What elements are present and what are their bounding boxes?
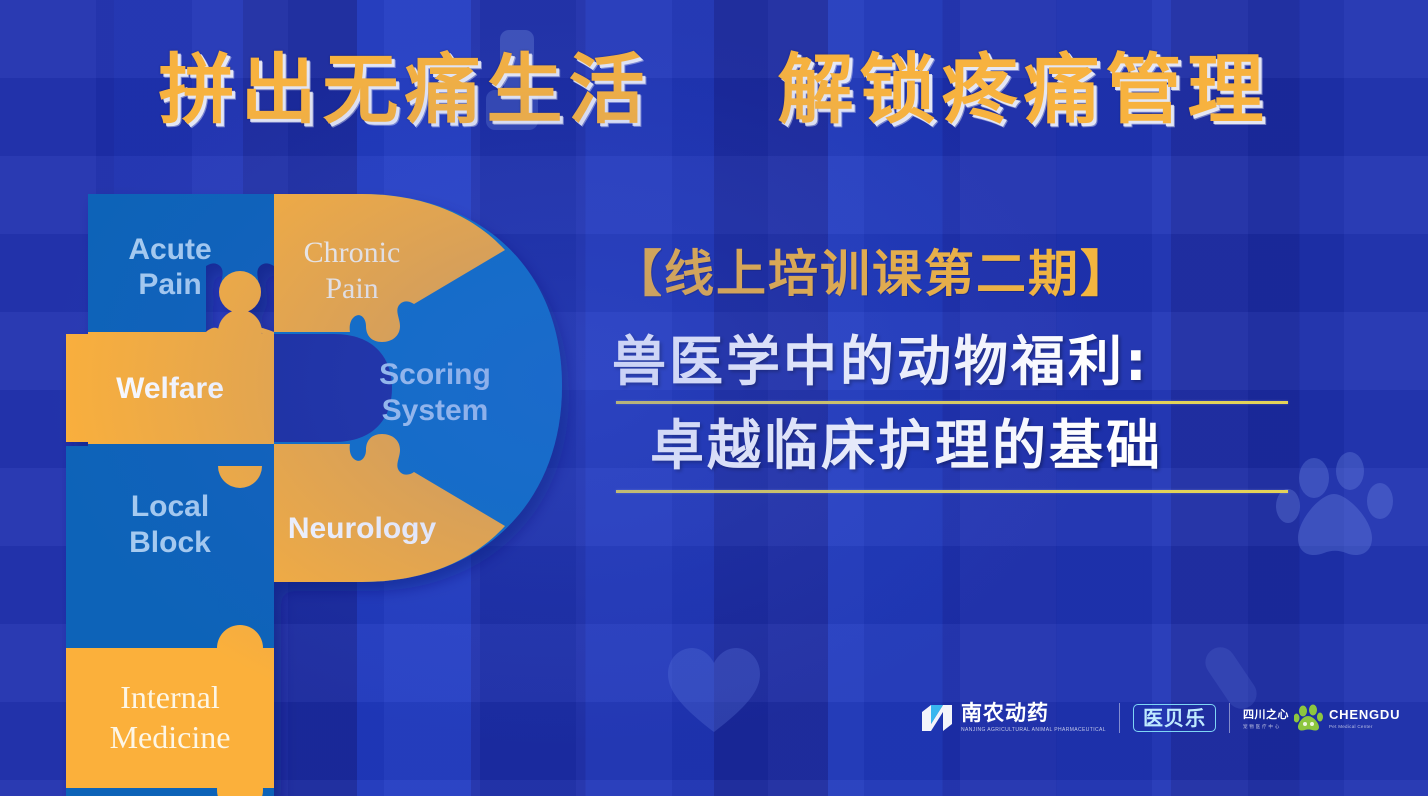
localblock-tab <box>218 582 262 626</box>
logo-chengdu-en-sub: Pet Medical Center <box>1329 724 1400 729</box>
label-local-block-line2: Block <box>129 526 211 559</box>
label-acute-pain-line2: Pain <box>138 268 201 301</box>
course-title-line-2: 卓越临床护理的基础 <box>612 414 1312 478</box>
logo-nanong-cn: 南农动药 <box>961 703 1106 724</box>
puzzle-svg: Acute Pain Chronic Pain Welfare Scoring … <box>62 186 582 796</box>
label-chronic-pain-line2: Pain <box>325 272 378 305</box>
letter-n-mark-icon <box>920 703 954 733</box>
sponsor-logo-bar: 南农动药 NANJING AGRICULTURAL ANIMAL PHARMAC… <box>920 692 1400 744</box>
yibeile-box: 医贝乐 <box>1133 704 1216 732</box>
logo-nanong-sub: NANJING AGRICULTURAL ANIMAL PHARMACEUTIC… <box>961 727 1106 733</box>
headline-part-2: 解锁疼痛管理 <box>777 45 1269 134</box>
puzzle-letter-p-diagram: Acute Pain Chronic Pain Welfare Scoring … <box>62 186 582 796</box>
label-internal-medicine-line1: Internal <box>120 679 220 715</box>
label-internal-medicine-line2: Medicine <box>110 719 231 755</box>
p-inner-counter <box>274 334 392 442</box>
course-title-line-1: 兽医学中的动物福利: <box>612 330 1312 394</box>
logo-chengdu-cn-sub: 宠 物 医 疗 中 心 <box>1243 724 1289 730</box>
welfare-tab-top <box>218 310 262 354</box>
course-title-block: 兽医学中的动物福利: 卓越临床护理的基础 <box>612 330 1312 493</box>
label-acute-pain-line1: Acute <box>128 233 211 266</box>
chengdu-cn-stack: 四川之心 宠 物 医 疗 中 心 <box>1243 706 1289 730</box>
title-divider-bottom <box>616 490 1288 493</box>
logo-chengdu-cn: 四川之心 <box>1243 706 1289 722</box>
course-series-badge: 【线上培训课第二期】 <box>612 246 1312 304</box>
poster-headline: 拼出无痛生活 解锁疼痛管理 <box>0 52 1428 128</box>
acute-welfare-knob <box>219 271 261 313</box>
logo-yibeile: 医贝乐 <box>1133 692 1216 744</box>
label-welfare: Welfare <box>116 372 224 405</box>
logo-chengdu: 四川之心 宠 物 医 疗 中 心 CHENGDU Pet Medica <box>1243 692 1400 744</box>
label-neurology: Neurology <box>288 512 437 545</box>
logo-chengdu-en: CHENGDU <box>1329 707 1400 722</box>
nanong-text-stack: 南农动药 NANJING AGRICULTURAL ANIMAL PHARMAC… <box>961 703 1106 733</box>
label-local-block-line1: Local <box>131 490 209 523</box>
logo-separator-1 <box>1119 703 1120 733</box>
heart-icon <box>666 646 762 734</box>
chengdu-en-stack: CHENGDU Pet Medical Center <box>1329 707 1400 729</box>
title-divider-top <box>616 401 1288 404</box>
label-scoring-system-line2: System <box>382 394 489 427</box>
poster-canvas: 拼出无痛生活 解锁疼痛管理 <box>0 0 1428 796</box>
label-scoring-system-line1: Scoring <box>379 358 491 391</box>
headline-part-1: 拼出无痛生活 <box>159 45 651 134</box>
logo-nanong-dongyao: 南农动药 NANJING AGRICULTURAL ANIMAL PHARMAC… <box>920 692 1106 744</box>
label-chronic-pain-line1: Chronic <box>304 236 401 269</box>
logo-separator-2 <box>1229 703 1230 733</box>
logo-yibeile-cn: 医贝乐 <box>1143 708 1206 728</box>
green-paw-mark-icon <box>1294 704 1324 732</box>
course-info-block: 【线上培训课第二期】 兽医学中的动物福利: 卓越临床护理的基础 <box>612 246 1312 493</box>
internalmed-tab-top <box>217 625 263 671</box>
